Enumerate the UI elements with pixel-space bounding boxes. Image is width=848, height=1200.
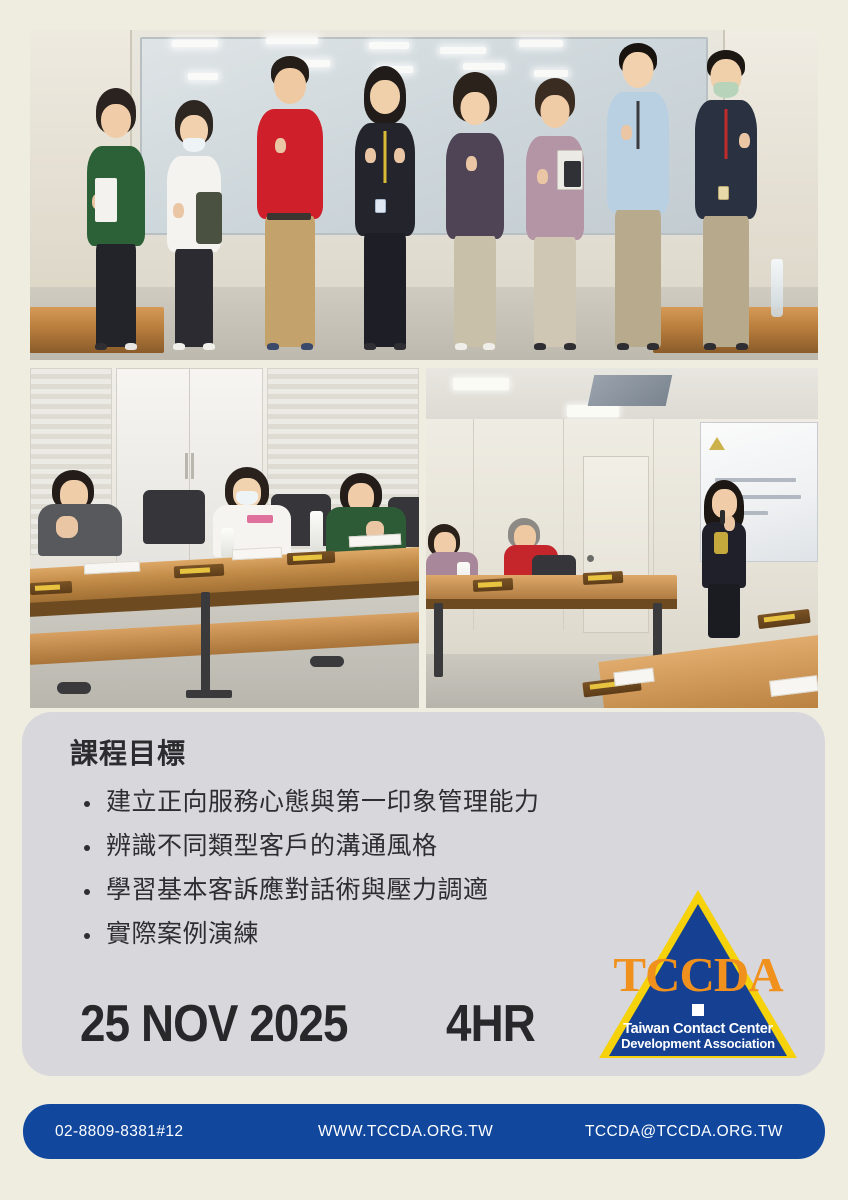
slide-logo-icon	[709, 437, 725, 450]
person	[85, 83, 147, 347]
table-leg	[434, 603, 443, 678]
seated-participants-photo	[30, 368, 419, 708]
footer-website[interactable]: WWW.TCCDA.ORG.TW	[318, 1123, 493, 1141]
table-foot	[186, 690, 232, 698]
ceiling-light	[172, 40, 218, 47]
objective-item: 實際案例演練	[80, 912, 540, 956]
person	[164, 89, 224, 346]
person	[353, 63, 417, 347]
ceiling-light	[440, 47, 486, 54]
instructor-presenting-photo	[426, 368, 818, 708]
card-title: 課程目標	[70, 732, 186, 772]
objectives-list: 建立正向服務心態與第一印象管理能力 辨識不同類型客戶的溝通風格 學習基本客訴應對…	[80, 780, 540, 956]
tccda-logo: TCCDA Taiwan Contact Center Development …	[599, 890, 797, 1060]
name-plate	[30, 581, 72, 595]
name-plate	[473, 578, 514, 592]
name-plate	[286, 550, 335, 564]
table-leg	[201, 592, 210, 694]
course-poster: 課程目標 建立正向服務心態與第一印象管理能力 辨識不同類型客戶的溝通風格 學習基…	[0, 0, 848, 1200]
person	[255, 56, 325, 346]
contact-footer-bar: 02-8809-8381#12 WWW.TCCDA.ORG.TW TCCDA@T…	[23, 1104, 825, 1159]
person	[444, 70, 506, 347]
objective-item: 學習基本客訴應對話術與壓力調適	[80, 868, 540, 912]
course-date: 25 NOV 2025	[80, 994, 348, 1054]
course-info-card: 課程目標 建立正向服務心態與第一印象管理能力 辨識不同類型客戶的溝通風格 學習基…	[22, 712, 825, 1076]
table-edge	[426, 599, 677, 609]
logo-subtitle-line2: Development Association	[599, 1037, 797, 1052]
ceiling-light	[266, 37, 318, 44]
logo-square-icon	[692, 1004, 704, 1016]
footer-email[interactable]: TCCDA@TCCDA.ORG.TW	[585, 1123, 783, 1141]
water-bottle	[310, 511, 323, 551]
instructor	[700, 480, 748, 657]
schedule-row: 25 NOV 2025 4HR	[80, 994, 547, 1054]
person	[692, 50, 760, 347]
chair-base	[57, 682, 91, 694]
office-chair	[143, 490, 205, 544]
group-photo	[30, 30, 818, 360]
ceiling-light	[369, 42, 409, 49]
course-duration: 4HR	[446, 994, 535, 1054]
ceiling-vent	[587, 375, 672, 406]
handout	[349, 533, 402, 547]
photo-collage	[30, 30, 818, 708]
person	[605, 43, 671, 347]
water-bottle	[771, 259, 783, 317]
ceiling-light	[188, 73, 218, 80]
ceiling-light	[567, 405, 619, 417]
ceiling-light	[519, 40, 563, 47]
name-plate	[583, 571, 624, 585]
ceiling-light	[453, 378, 509, 390]
footer-phone[interactable]: 02-8809-8381#12	[55, 1123, 183, 1141]
person	[523, 73, 587, 347]
chair-base	[310, 656, 344, 667]
objective-item: 辨識不同類型客戶的溝通風格	[80, 824, 540, 868]
logo-wordmark: TCCDA	[599, 950, 797, 999]
objective-item: 建立正向服務心態與第一印象管理能力	[80, 780, 540, 824]
door-knob	[587, 555, 594, 562]
